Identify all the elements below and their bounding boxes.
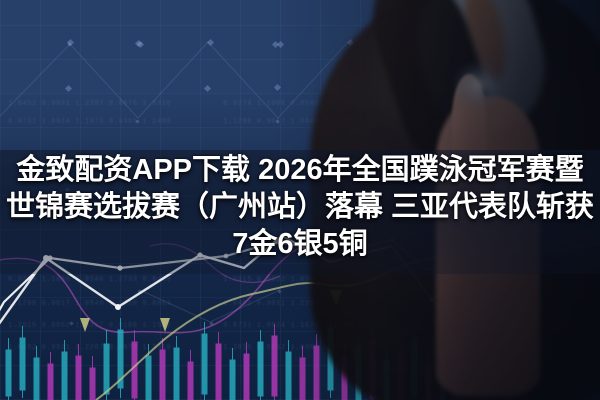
news-banner-image: 1.0452 0.9931 1.2207 0.8876 1.3310 0.927… — [0, 0, 600, 400]
page-title: 金致配资APP下载 2026年全国蹼泳冠军赛暨世锦赛选拔赛（广州站）落幕 三亚代… — [0, 152, 600, 263]
